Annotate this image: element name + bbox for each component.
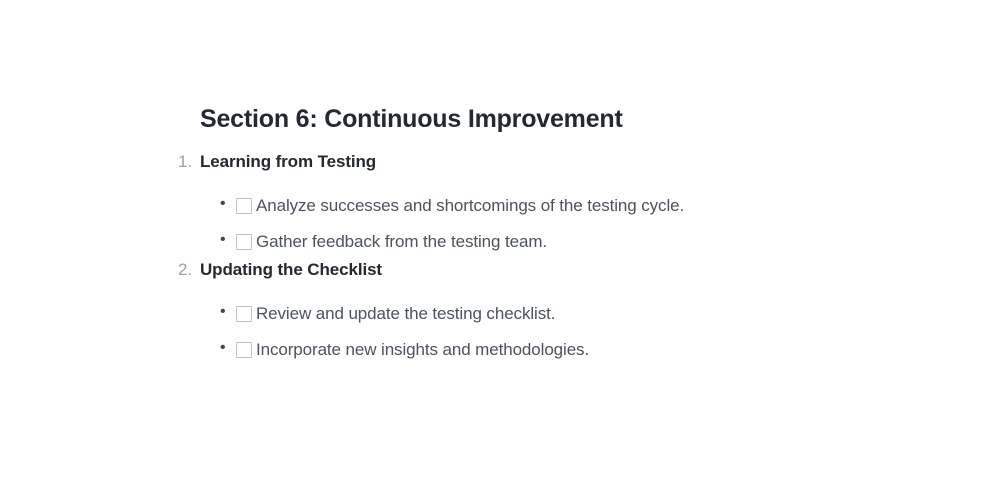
page-title: Section 6: Continuous Improvement — [200, 104, 938, 134]
checklist-section-header: 1.Learning from Testing — [178, 152, 938, 188]
checklist-item-group: •Review and update the testing checklist… — [178, 296, 938, 368]
checklist-section-title: Learning from Testing — [200, 152, 376, 172]
checkbox-icon[interactable] — [236, 306, 252, 322]
list-item-label: Review and update the testing checklist. — [256, 304, 555, 324]
list-item[interactable]: •Review and update the testing checklist… — [178, 296, 938, 332]
document-content: Section 6: Continuous Improvement 1.Lear… — [178, 104, 938, 368]
list-item-label: Gather feedback from the testing team. — [256, 232, 547, 252]
checklist-section-header: 2.Updating the Checklist — [178, 260, 938, 296]
ordered-checklist: 1.Learning from Testing•Analyze successe… — [178, 152, 938, 368]
list-item-label: Incorporate new insights and methodologi… — [256, 340, 589, 360]
checkbox-icon[interactable] — [236, 198, 252, 214]
list-item-label: Analyze successes and shortcomings of th… — [256, 196, 684, 216]
list-number-marker: 1. — [178, 152, 200, 172]
list-item[interactable]: •Gather feedback from the testing team. — [178, 224, 938, 260]
checklist-section: 1.Learning from Testing•Analyze successe… — [178, 152, 938, 260]
checklist-item-group: •Analyze successes and shortcomings of t… — [178, 188, 938, 260]
list-item[interactable]: •Analyze successes and shortcomings of t… — [178, 188, 938, 224]
document-page: Section 6: Continuous Improvement 1.Lear… — [0, 0, 1000, 488]
bullet-icon: • — [220, 304, 236, 320]
checklist-section-title: Updating the Checklist — [200, 260, 382, 280]
list-number-marker: 2. — [178, 260, 200, 280]
checkbox-icon[interactable] — [236, 234, 252, 250]
bullet-icon: • — [220, 196, 236, 212]
bullet-icon: • — [220, 232, 236, 248]
checklist-section: 2.Updating the Checklist•Review and upda… — [178, 260, 938, 368]
list-item[interactable]: •Incorporate new insights and methodolog… — [178, 332, 938, 368]
bullet-icon: • — [220, 340, 236, 356]
checkbox-icon[interactable] — [236, 342, 252, 358]
